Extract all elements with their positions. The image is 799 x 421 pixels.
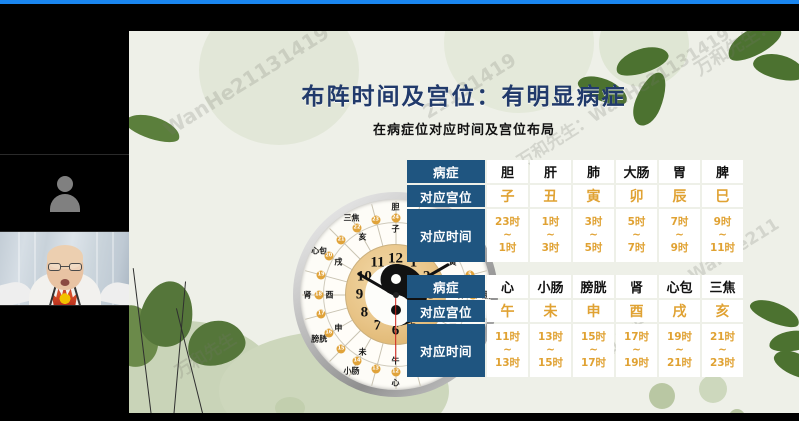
table-cell-palace: 申 xyxy=(573,300,614,322)
bg-blob xyxy=(729,409,745,413)
table-cell-palace: 辰 xyxy=(659,185,700,207)
clock-hour-mark: 22 xyxy=(353,223,362,232)
table-cell-time: 13时 ~ 15时 xyxy=(530,324,571,377)
decor-leaf xyxy=(747,294,799,332)
table-cell-time: 19时 ~ 21时 xyxy=(659,324,700,377)
table-row-palace: 对应宫位 午 未 申 酉 戌 亥 xyxy=(407,300,743,322)
clock-hour-mark: 21 xyxy=(337,236,346,245)
row-label-time: 对应时间 xyxy=(407,209,485,262)
clock-hour-mark: 18 xyxy=(314,290,323,299)
table-cell-organ: 心包 xyxy=(659,275,700,298)
row-label-symptom: 病症 xyxy=(407,275,485,298)
table-cell-palace: 亥 xyxy=(702,300,743,322)
table-cell-palace: 丑 xyxy=(530,185,571,207)
person-arm-right xyxy=(99,279,129,305)
table-cell-time: 7时 ~ 9时 xyxy=(659,209,700,262)
presentation-slide: WanHe21131419 21131419 万和先生：WanHe2113141… xyxy=(129,31,799,413)
page-title: 布阵时间及宫位：有明显病症 xyxy=(129,77,799,111)
clock-hour-mark: 19 xyxy=(317,270,326,279)
clock-second-hand xyxy=(395,295,396,361)
table-cell-time: 17时 ~ 19时 xyxy=(616,324,657,377)
clock-branch-label: 亥 xyxy=(359,232,367,243)
symptom-palace-time-table-2: 病症 心 小肠 膀胱 肾 心包 三焦 对应宫位 午 未 申 酉 戌 亥 xyxy=(405,273,745,379)
table-cell-time: 21时 ~ 23时 xyxy=(702,324,743,377)
symptom-palace-time-table-1: 病症 胆 肝 肺 大肠 胃 脾 对应宫位 子 丑 寅 卯 辰 巳 xyxy=(405,158,745,264)
table-row-symptom: 病症 胆 肝 肺 大肠 胃 脾 xyxy=(407,160,743,183)
screen-share-window: WanHe21131419 21131419 万和先生：WanHe2113141… xyxy=(0,0,799,421)
table-cell-organ: 肾 xyxy=(616,275,657,298)
clock-hour-mark: 14 xyxy=(353,357,362,366)
table-cell-organ: 三焦 xyxy=(702,275,743,298)
clock-hour-mark: 15 xyxy=(337,344,346,353)
clock-hour-mark: 16 xyxy=(324,329,333,338)
clock-number: 9 xyxy=(356,286,364,303)
table-cell-palace: 子 xyxy=(487,185,528,207)
clock-organ-label: 三焦 xyxy=(344,213,360,224)
table-cell-organ: 脾 xyxy=(702,160,743,183)
glasses-icon xyxy=(48,263,82,271)
table-cell-organ: 肺 xyxy=(573,160,614,183)
table-cell-time: 5时 ~ 7时 xyxy=(616,209,657,262)
clock-organ-label: 小肠 xyxy=(344,365,360,376)
person-mouth xyxy=(60,279,69,286)
clock-hour-mark: 12 xyxy=(391,367,400,376)
table-cell-palace: 戌 xyxy=(659,300,700,322)
avatar-placeholder-icon xyxy=(48,176,82,210)
table-cell-palace: 巳 xyxy=(702,185,743,207)
table-cell-organ: 大肠 xyxy=(616,160,657,183)
table-cell-time: 9时 ~ 11时 xyxy=(702,209,743,262)
table-cell-organ: 心 xyxy=(487,275,528,298)
clock-organ-label: 胆 xyxy=(392,201,400,212)
clock-hour-mark: 23 xyxy=(371,216,380,225)
bg-blob xyxy=(699,375,727,403)
table-row-palace: 对应宫位 子 丑 寅 卯 辰 巳 xyxy=(407,185,743,207)
table-cell-organ: 胆 xyxy=(487,160,528,183)
table-row-time: 对应时间 23时 ~ 1时 1时 ~ 3时 3时 ~ 5时 xyxy=(407,209,743,262)
table-row-time: 对应时间 11时 ~ 13时 13时 ~ 15时 15时 ~ 17时 xyxy=(407,324,743,377)
table-cell-time: 3时 ~ 5时 xyxy=(573,209,614,262)
row-label-symptom: 病症 xyxy=(407,160,485,183)
table-cell-palace: 午 xyxy=(487,300,528,322)
table-cell-time: 15时 ~ 17时 xyxy=(573,324,614,377)
table-row-symptom: 病症 心 小肠 膀胱 肾 心包 三焦 xyxy=(407,275,743,298)
clock-pivot xyxy=(393,292,399,298)
video-tile-1[interactable] xyxy=(0,4,129,154)
table-cell-palace: 酉 xyxy=(616,300,657,322)
video-tile-4[interactable] xyxy=(0,306,129,421)
clock-hour-mark: 24 xyxy=(391,213,400,222)
clock-branch-label: 子 xyxy=(392,223,400,234)
row-label-palace: 对应宫位 xyxy=(407,185,485,207)
row-label-time: 对应时间 xyxy=(407,324,485,377)
table-cell-time: 11时 ~ 13时 xyxy=(487,324,528,377)
webcam-feed xyxy=(0,232,129,305)
table-cell-palace: 未 xyxy=(530,300,571,322)
clock-branch-label: 申 xyxy=(334,322,342,333)
page-subtitle: 在病症位对应时间及宫位布局 xyxy=(129,119,799,138)
table-cell-organ: 小肠 xyxy=(530,275,571,298)
table-cell-organ: 膀胱 xyxy=(573,275,614,298)
clock-hour-mark: 13 xyxy=(371,364,380,373)
row-label-palace: 对应宫位 xyxy=(407,300,485,322)
table-cell-time: 23时 ~ 1时 xyxy=(487,209,528,262)
table-cell-palace: 寅 xyxy=(573,185,614,207)
table-cell-time: 1时 ~ 3时 xyxy=(530,209,571,262)
avatar-body xyxy=(50,194,80,212)
table-cell-organ: 胃 xyxy=(659,160,700,183)
clock-organ-label: 肾 xyxy=(304,289,312,300)
clock-organ-label: 心 xyxy=(392,377,400,388)
clock-branch-label: 未 xyxy=(359,346,367,357)
clock-branch-label: 酉 xyxy=(326,289,334,300)
clock-hour-mark: 17 xyxy=(317,310,326,319)
avatar-head xyxy=(57,176,73,192)
video-tile-3-webcam[interactable] xyxy=(0,232,129,305)
participant-video-rail xyxy=(0,4,129,421)
clock-branch-label: 戌 xyxy=(334,256,342,267)
bg-blob xyxy=(275,397,305,413)
table-cell-palace: 卯 xyxy=(616,185,657,207)
table-cell-organ: 肝 xyxy=(530,160,571,183)
clock-hour-mark: 20 xyxy=(324,252,333,261)
bg-blob xyxy=(649,383,675,409)
video-tile-2-avatar[interactable] xyxy=(0,155,129,231)
